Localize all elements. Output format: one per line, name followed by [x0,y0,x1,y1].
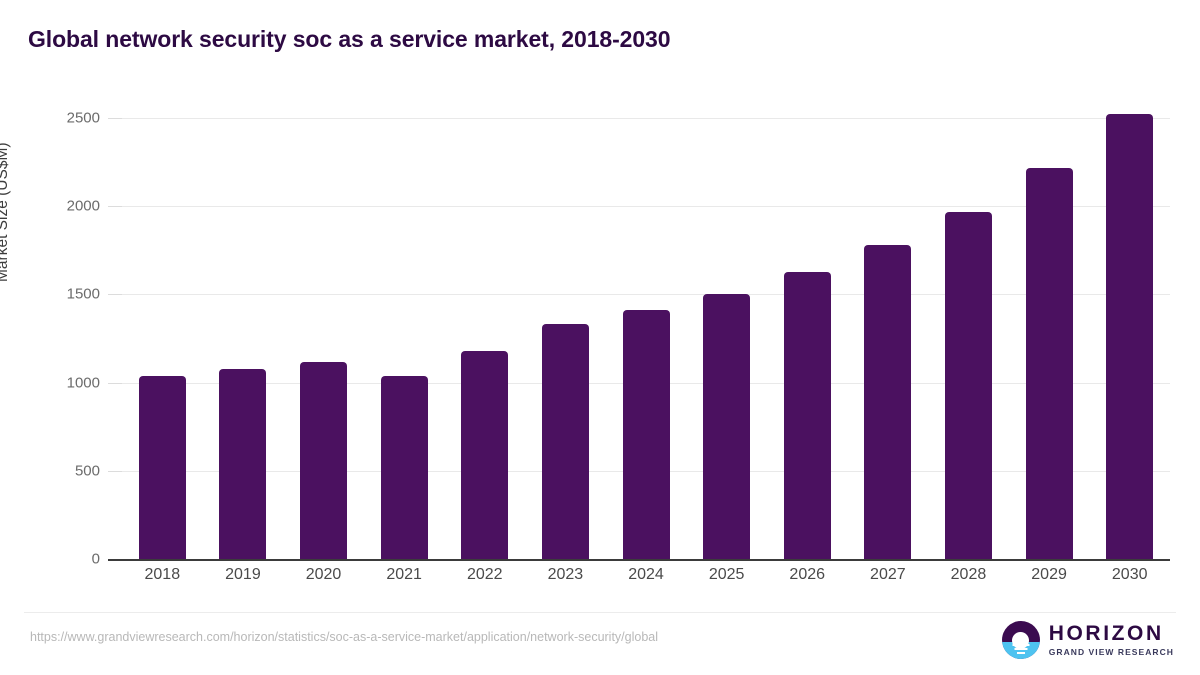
bar-2018[interactable] [139,376,186,559]
x-tick-label: 2025 [709,566,745,584]
x-tick-label: 2029 [1031,566,1067,584]
bar-2025[interactable] [703,294,750,559]
y-tick-label: 1000 [20,374,100,391]
bar-2021[interactable] [381,376,428,559]
y-tick-label: 2500 [20,110,100,127]
logo-ray-2 [1014,648,1027,650]
y-tick-mark [108,206,122,207]
plot-area: 05001000150020002500 2018201920202021202… [122,96,1170,559]
bar-2026[interactable] [784,272,831,560]
x-tick-label: 2028 [951,566,987,584]
y-tick-label: 2000 [20,198,100,215]
chart-page: Global network security soc as a service… [0,0,1200,675]
x-tick-label: 2022 [467,566,503,584]
x-tick-label: 2021 [386,566,422,584]
x-tick-label: 2019 [225,566,261,584]
horizon-logo: HORIZON GRAND VIEW RESEARCH [1002,617,1174,663]
logo-subtitle: GRAND VIEW RESEARCH [1049,648,1174,657]
footer-divider [24,612,1176,613]
x-tick-label: 2026 [789,566,825,584]
gridline [122,118,1170,119]
bar-2030[interactable] [1106,114,1153,559]
y-tick-label: 0 [20,551,100,568]
bar-2024[interactable] [623,310,670,559]
bar-2023[interactable] [542,324,589,559]
y-tick-mark [108,471,122,472]
logo-wordmark: HORIZON [1049,623,1174,644]
bar-2022[interactable] [461,351,508,559]
y-tick-mark [108,118,122,119]
x-tick-label: 2020 [306,566,342,584]
logo-ray-1 [1012,644,1029,646]
y-tick-mark [108,383,122,384]
bar-2020[interactable] [300,362,347,559]
logo-ray-3 [1017,652,1025,654]
x-tick-label: 2018 [145,566,181,584]
gridline [122,206,1170,207]
y-tick-mark [108,294,122,295]
horizon-logo-icon [1002,621,1040,659]
gridline [122,294,1170,295]
y-axis-title: Market Size (US$M) [0,142,12,282]
page-title: Global network security soc as a service… [28,26,1128,53]
x-tick-label: 2030 [1112,566,1148,584]
bar-2029[interactable] [1026,168,1073,559]
y-tick-label: 1500 [20,286,100,303]
gridline [122,559,1170,561]
logo-text: HORIZON GRAND VIEW RESEARCH [1049,623,1174,657]
bar-2028[interactable] [945,212,992,559]
source-url-link[interactable]: https://www.grandviewresearch.com/horizo… [30,630,658,644]
bar-2019[interactable] [219,369,266,559]
y-tick-label: 500 [20,462,100,479]
x-tick-label: 2024 [628,566,664,584]
x-tick-label: 2027 [870,566,906,584]
x-tick-label: 2023 [548,566,584,584]
bar-2027[interactable] [864,245,911,559]
y-tick-mark [108,559,122,561]
